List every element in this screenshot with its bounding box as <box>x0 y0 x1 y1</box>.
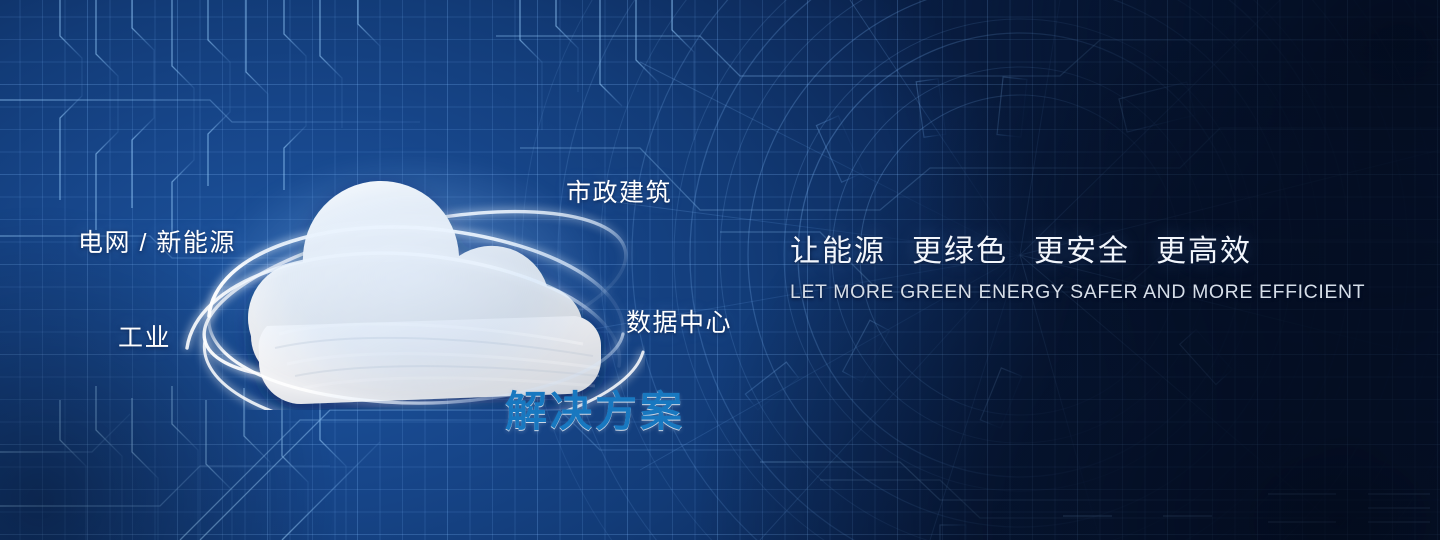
cloud-graphic: 解决方案 <box>175 120 645 410</box>
label-municipal-building: 市政建筑 <box>566 173 672 209</box>
label-power-grid-new-energy: 电网 / 新能源 <box>78 223 236 259</box>
solution-banner: 解决方案 电网 / 新能源 工业 市政建筑 数据中心 让能源更绿色更安全更高效 … <box>0 0 1440 540</box>
slogan-segment-1: 让能源 <box>790 235 886 268</box>
slogan-segment-4: 更高效 <box>1156 235 1252 268</box>
label-industry: 工业 <box>118 318 171 354</box>
slogan-segment-3: 更安全 <box>1034 235 1130 268</box>
slogan-chinese: 让能源更绿色更安全更高效 <box>790 226 1330 270</box>
label-data-center: 数据中心 <box>626 303 732 339</box>
slogan-block: 让能源更绿色更安全更高效 LET MORE GREEN ENERGY SAFER… <box>790 226 1330 304</box>
page-title: 解决方案 <box>505 378 685 439</box>
slogan-english: LET MORE GREEN ENERGY SAFER AND MORE EFF… <box>790 281 1330 304</box>
slogan-segment-2: 更绿色 <box>912 235 1008 268</box>
